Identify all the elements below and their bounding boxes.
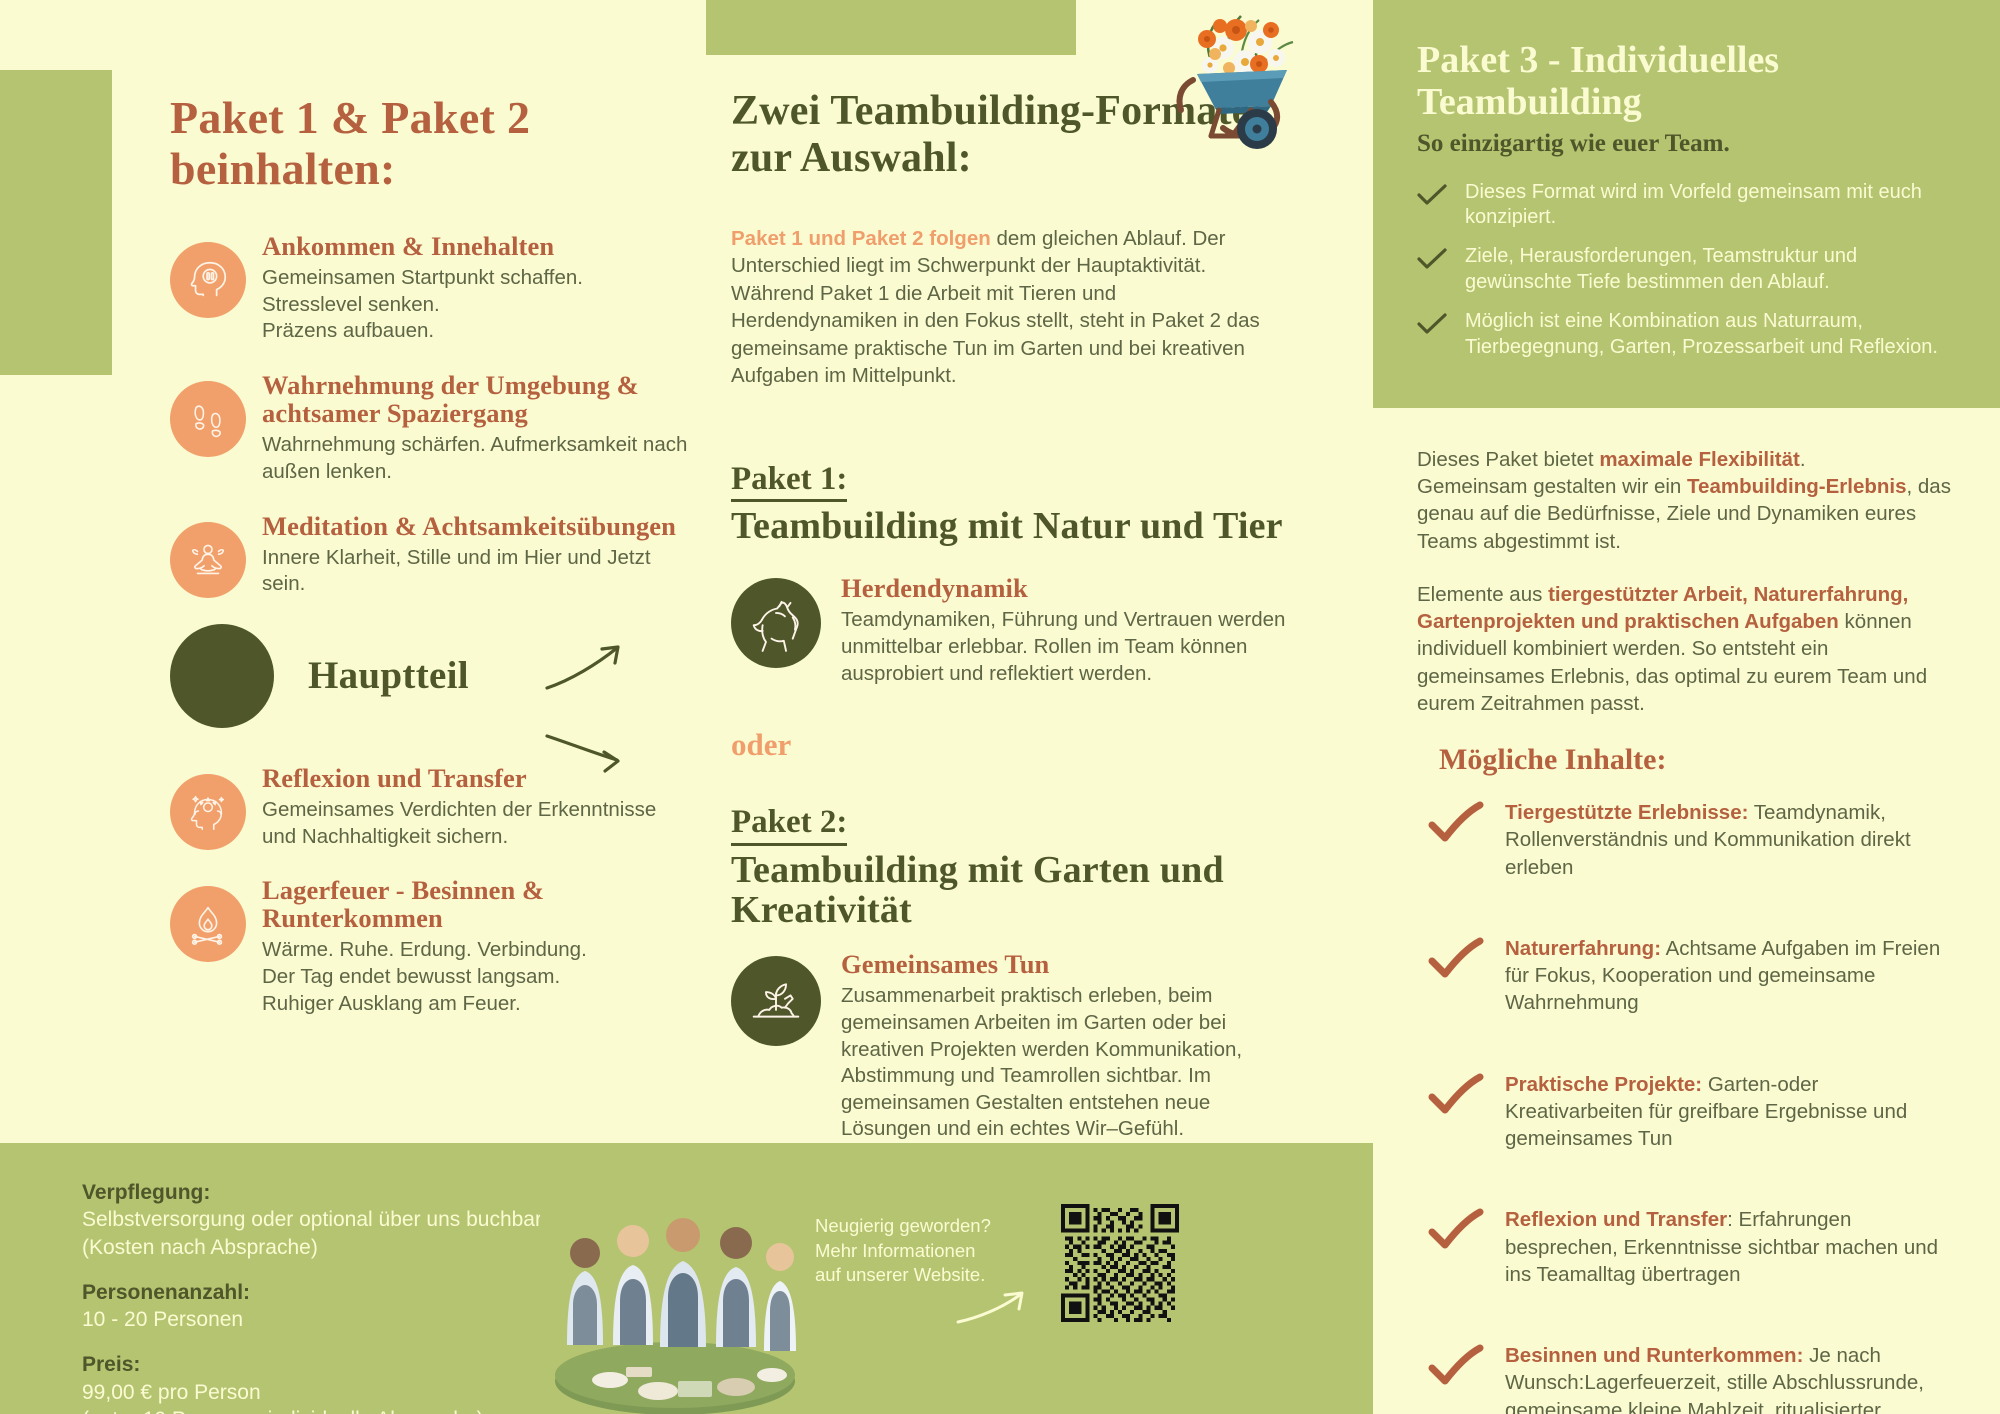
paket3-check-item: Dieses Format wird im Vorfeld gemeinsam … xyxy=(1417,180,1956,231)
feature-body: Zusammenarbeit praktisch erleben, beim g… xyxy=(841,983,1301,1143)
inhalt-bold: Besinnen und Runterkommen: xyxy=(1505,1344,1803,1367)
paket3-paragraph-2: Elemente aus tiergestützter Arbeit, Natu… xyxy=(1417,581,1956,717)
inhalt-item: Naturerfahrung: Achtsame Aufgaben im Fre… xyxy=(1417,935,1956,1043)
column-paket3: Paket 3 - Individuelles Teambuilding So … xyxy=(1373,0,2000,1414)
footer-value: 10 - 20 Personen xyxy=(82,1306,602,1333)
paket1-kicker: Paket 1: xyxy=(731,462,847,502)
decor-block-left xyxy=(0,70,112,375)
footer-label: Verpflegung: xyxy=(82,1179,602,1206)
cta-text: Neugierig geworden? Mehr Informationen a… xyxy=(815,1214,1075,1288)
head-idea-icon xyxy=(170,774,246,850)
feature-lagerfeuer: Lagerfeuer - Besinnen & Runterkommen Wär… xyxy=(170,876,690,1017)
paket1-name: Teambuilding mit Natur und Tier xyxy=(731,506,1301,546)
cta-arrow-icon xyxy=(955,1290,1035,1335)
feature-heading: Reflexion und Transfer xyxy=(262,764,690,792)
feature-heading: Wahrnehmung der Umgebung & achtsamer Spa… xyxy=(262,371,690,427)
footer-block-personenanzahl: Personenanzahl: 10 - 20 Personen xyxy=(82,1279,602,1334)
footer-value: Selbstversorgung oder optional über uns … xyxy=(82,1206,602,1261)
p2-seg1: Elemente aus xyxy=(1417,583,1548,606)
brochure-page: Paket 1 & Paket 2 beinhalten: Ankommen &… xyxy=(0,0,2000,1414)
paket3-check-text: Ziele, Herausforderungen, Teamstruktur u… xyxy=(1465,244,1956,295)
footprints-icon xyxy=(170,381,246,457)
check-icon xyxy=(1427,1344,1489,1393)
intro-paragraph: Paket 1 und Paket 2 folgen dem gleichen … xyxy=(731,225,1276,390)
check-icon xyxy=(1417,313,1451,340)
moegliche-inhalte-title: Mögliche Inhalte: xyxy=(1439,743,1956,777)
intro-rest: dem gleichen Ablauf. Der Unterschied lie… xyxy=(731,227,1260,387)
check-icon xyxy=(1417,248,1451,275)
paket3-box: Paket 3 - Individuelles Teambuilding So … xyxy=(1373,0,2000,408)
footer-label: Personenanzahl: xyxy=(82,1279,602,1306)
footer-details: Verpflegung: Selbstversorgung oder optio… xyxy=(82,1179,602,1414)
check-icon xyxy=(1427,937,1489,986)
inhalt-bold: Tiergestützte Erlebnisse: xyxy=(1505,801,1748,824)
paket3-check-text: Dieses Format wird im Vorfeld gemeinsam … xyxy=(1465,180,1956,231)
sprout-shovel-icon xyxy=(731,956,821,1046)
feature-meditation: Meditation & Achtsamkeitsübungen Innere … xyxy=(170,512,690,598)
footer-value: 99,00 € pro Person (unter 10 Personen in… xyxy=(82,1379,602,1414)
feature-reflexion: Reflexion und Transfer Gemeinsames Verdi… xyxy=(170,764,690,850)
paket3-check-item: Ziele, Herausforderungen, Teamstruktur u… xyxy=(1417,244,1956,295)
feature-heading: Meditation & Achtsamkeitsübungen xyxy=(262,512,690,540)
column1-title: Paket 1 & Paket 2 beinhalten: xyxy=(170,92,690,194)
column-formats: Zwei Teambuilding-Formate zur Auswahl: P… xyxy=(731,88,1301,1169)
hauptteil-row: Hauptteil xyxy=(170,624,690,728)
feature-ankommen: Ankommen & Innehalten Gemeinsamen Startp… xyxy=(170,232,690,345)
feature-heading: Ankommen & Innehalten xyxy=(262,232,690,260)
paket2-kicker: Paket 2: xyxy=(731,805,847,845)
p1-bold2: Teambuilding-Erlebnis xyxy=(1687,475,1906,498)
feature-gemeinsames-tun: Gemeinsames Tun Zusammenarbeit praktisch… xyxy=(731,946,1301,1143)
check-icon xyxy=(1427,801,1489,850)
inhalt-item: Besinnen und Runterkommen: Je nach Wunsc… xyxy=(1417,1342,1956,1414)
team-workshop-photo xyxy=(540,1195,810,1414)
campfire-icon xyxy=(170,886,246,962)
feature-body: Gemeinsamen Startpunkt schaffen. Stressl… xyxy=(262,265,690,345)
inhalt-bold: Reflexion und Transfer xyxy=(1505,1208,1727,1231)
inhalt-item: Tiergestützte Erlebnisse: Teamdynamik, R… xyxy=(1417,799,1956,907)
check-icon xyxy=(1427,1208,1489,1257)
feature-herdendynamik: Herdendynamik Teamdynamiken, Führung und… xyxy=(731,568,1301,687)
feature-body: Teamdynamiken, Führung und Vertrauen wer… xyxy=(841,607,1301,687)
paket1-heading: Paket 1: Teambuilding mit Natur und Tier xyxy=(731,462,1301,547)
footer-block-preis: Preis: 99,00 € pro Person (unter 10 Pers… xyxy=(82,1351,602,1414)
inhalt-bold: Naturerfahrung: xyxy=(1505,937,1661,960)
feature-body: Innere Klarheit, Stille und im Hier und … xyxy=(262,545,690,598)
wheelbarrow-with-flowers-image xyxy=(1163,2,1308,160)
inhalt-bold: Praktische Projekte: xyxy=(1505,1073,1702,1096)
paket2-heading: Paket 2: Teambuilding mit Garten und Kre… xyxy=(731,805,1301,930)
paket2-name: Teambuilding mit Garten und Kreativität xyxy=(731,850,1301,931)
cta-paragraph: Neugierig geworden? Mehr Informationen a… xyxy=(815,1214,1075,1288)
feature-heading: Herdendynamik xyxy=(841,574,1301,602)
paket3-paragraph-1: Dieses Paket bietet maximale Flexibilitä… xyxy=(1417,446,1956,555)
inhalt-item: Reflexion und Transfer: Erfahrungen besp… xyxy=(1417,1206,1956,1314)
feature-body: Gemeinsames Verdichten der Erkenntnisse … xyxy=(262,797,690,850)
paket3-check-text: Möglich ist eine Kombination aus Naturra… xyxy=(1465,309,1956,360)
qr-code-icon[interactable] xyxy=(1061,1204,1179,1322)
meditation-icon xyxy=(170,522,246,598)
horse-icon xyxy=(731,578,821,668)
check-icon xyxy=(1417,184,1451,211)
feature-body: Wärme. Ruhe. Erdung. Verbindung. Der Tag… xyxy=(262,937,690,1017)
footer-block-verpflegung: Verpflegung: Selbstversorgung oder optio… xyxy=(82,1179,602,1261)
hauptteil-dot xyxy=(170,624,274,728)
p1-bold1: maximale Flexibilität xyxy=(1599,448,1800,471)
p1-seg1: Dieses Paket bietet xyxy=(1417,448,1599,471)
check-icon xyxy=(1427,1073,1489,1122)
paket3-check-item: Möglich ist eine Kombination aus Naturra… xyxy=(1417,309,1956,360)
hauptteil-label: Hauptteil xyxy=(308,653,469,698)
feature-heading: Gemeinsames Tun xyxy=(841,950,1301,978)
column-packages-content: Paket 1 & Paket 2 beinhalten: Ankommen &… xyxy=(170,92,690,1043)
paket3-title: Paket 3 - Individuelles Teambuilding xyxy=(1417,40,1956,124)
head-pause-icon xyxy=(170,242,246,318)
paket3-subtitle: So einzigartig wie euer Team. xyxy=(1417,130,1956,158)
intro-bold: Paket 1 und Paket 2 folgen xyxy=(731,227,991,250)
paket3-body: Dieses Paket bietet maximale Flexibilitä… xyxy=(1373,408,2000,1414)
decor-block-top xyxy=(706,0,1076,55)
footer-label: Preis: xyxy=(82,1351,602,1378)
feature-wahrnehmung: Wahrnehmung der Umgebung & achtsamer Spa… xyxy=(170,371,690,485)
inhalt-item: Praktische Projekte: Garten-oder Kreativ… xyxy=(1417,1071,1956,1179)
feature-body: Wahrnehmung schärfen. Aufmerksamkeit nac… xyxy=(262,432,690,485)
or-separator: oder xyxy=(731,727,1301,763)
feature-heading: Lagerfeuer - Besinnen & Runterkommen xyxy=(262,876,690,932)
